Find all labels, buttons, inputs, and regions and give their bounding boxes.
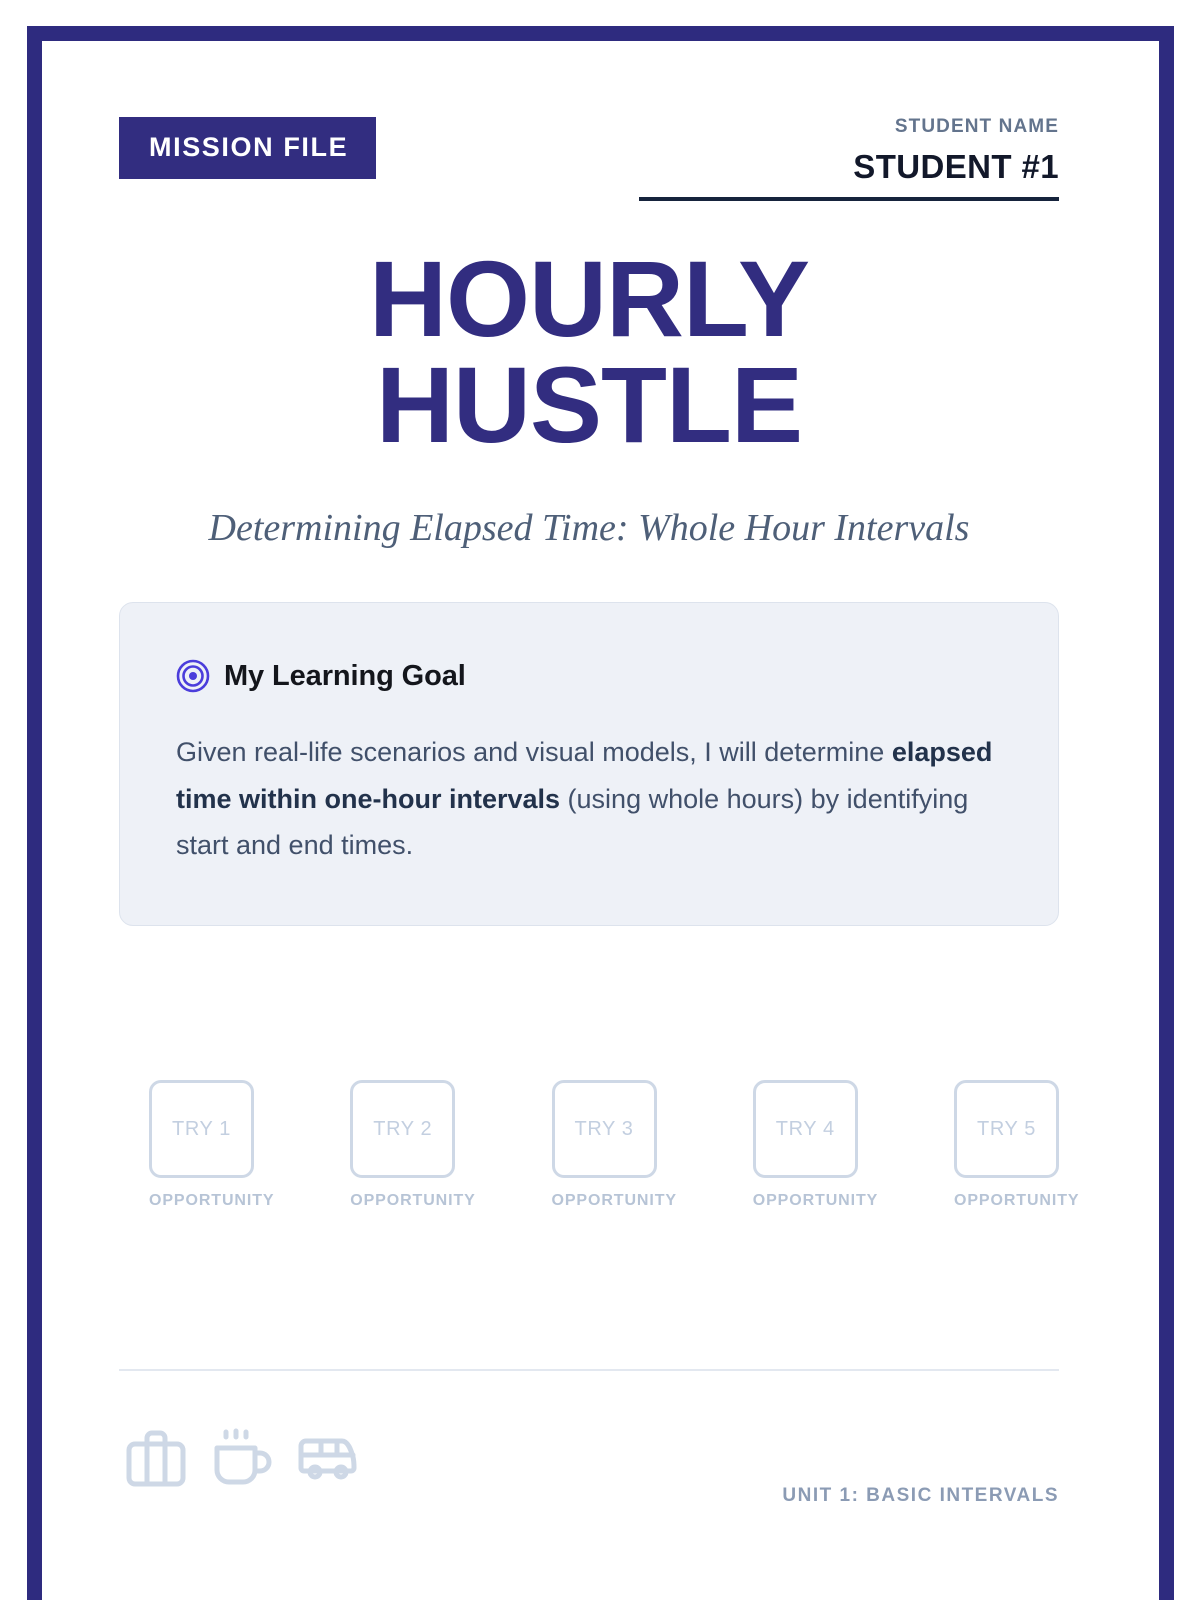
header: MISSION FILE STUDENT NAME STUDENT #1: [119, 117, 1059, 209]
learning-goal-header: My Learning Goal: [176, 659, 1002, 693]
attempt-box-try-2[interactable]: TRY 2: [350, 1080, 455, 1178]
attempt-caption-try-4: OPPORTUNITY: [753, 1192, 858, 1210]
target-icon: [176, 659, 210, 693]
attempt-caption-try-2: OPPORTUNITY: [350, 1192, 455, 1210]
attempt-caption-try-3: OPPORTUNITY: [552, 1192, 657, 1210]
attempt-cell: TRY 2 OPPORTUNITY: [350, 1080, 455, 1210]
learning-goal-heading: My Learning Goal: [224, 662, 466, 691]
briefcase-icon: [124, 1425, 188, 1489]
student-name-block: STUDENT NAME STUDENT #1: [639, 117, 1059, 201]
learning-goal-text: Given real-life scenarios and visual mod…: [176, 729, 1002, 869]
student-name-label: STUDENT NAME: [639, 117, 1059, 136]
attempt-caption-try-1: OPPORTUNITY: [149, 1192, 254, 1210]
attempt-box-try-3[interactable]: TRY 3: [552, 1080, 657, 1178]
worksheet-page: MISSION FILE STUDENT NAME STUDENT #1 HOU…: [0, 0, 1200, 1600]
attempt-caption-try-5: OPPORTUNITY: [954, 1192, 1059, 1210]
unit-label: UNIT 1: BASIC INTERVALS: [782, 1485, 1059, 1507]
page-title-line-1: HOURLY: [119, 246, 1059, 352]
footer-divider: [119, 1369, 1059, 1371]
attempt-box-try-5[interactable]: TRY 5: [954, 1080, 1059, 1178]
page-content: MISSION FILE STUDENT NAME STUDENT #1 HOU…: [119, 0, 1059, 1600]
attempt-cell: TRY 4 OPPORTUNITY: [753, 1080, 858, 1210]
page-title-line-2: HUSTLE: [119, 352, 1059, 458]
attempt-box-try-1[interactable]: TRY 1: [149, 1080, 254, 1178]
student-name-field[interactable]: STUDENT #1: [639, 150, 1059, 201]
footer-icon-group: [124, 1425, 360, 1489]
learning-goal-card: My Learning Goal Given real-life scenari…: [119, 602, 1059, 926]
attempt-cell: TRY 1 OPPORTUNITY: [149, 1080, 254, 1210]
attempt-box-try-4[interactable]: TRY 4: [753, 1080, 858, 1178]
page-title: HOURLY HUSTLE: [119, 246, 1059, 458]
bus-icon: [296, 1425, 360, 1489]
attempt-cell: TRY 3 OPPORTUNITY: [552, 1080, 657, 1210]
page-subtitle: Determining Elapsed Time: Whole Hour Int…: [119, 506, 1059, 552]
attempt-cell: TRY 5 OPPORTUNITY: [954, 1080, 1059, 1210]
coffee-cup-icon: [210, 1425, 274, 1489]
attempt-boxes-row: TRY 1 OPPORTUNITY TRY 2 OPPORTUNITY TRY …: [149, 1080, 1059, 1210]
goal-text-part-1: Given real-life scenarios and visual mod…: [176, 737, 892, 767]
footer: UNIT 1: BASIC INTERVALS: [119, 1425, 1059, 1515]
mission-file-badge: MISSION FILE: [119, 117, 376, 179]
